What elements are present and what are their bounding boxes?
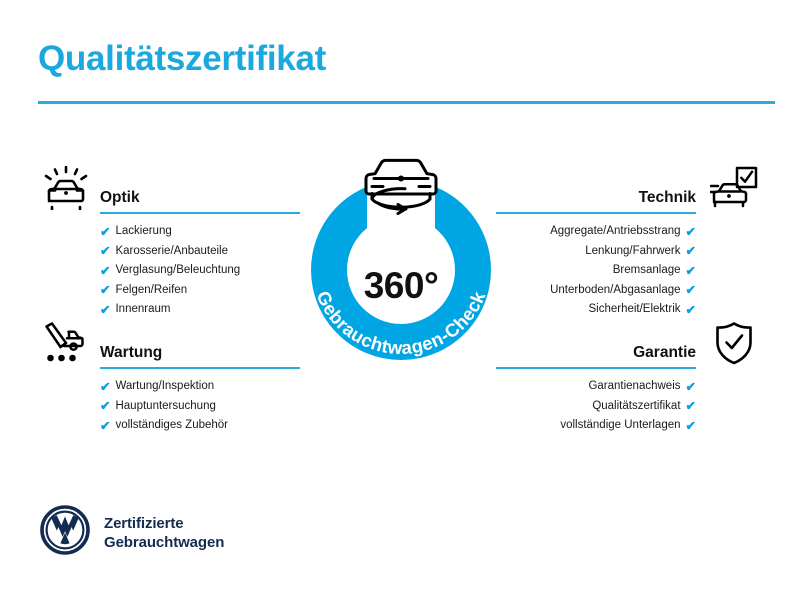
section-title-wartung: Wartung [100, 344, 162, 362]
list-item-label: Qualitätszertifikat [592, 397, 680, 417]
checklist-optik: ✔Lackierung ✔Karosserie/Anbauteile ✔Verg… [38, 222, 308, 320]
footer-logo: Zertifizierte Gebrauchtwagen [40, 505, 224, 560]
section-wartung: Wartung ✔Wartung/Inspektion ✔Hauptunters… [38, 318, 308, 436]
section-underline-technik [496, 212, 696, 214]
list-item-label: Bremsanlage [613, 261, 681, 281]
check-icon: ✔ [100, 226, 110, 239]
list-item-label: Felgen/Reifen [115, 281, 187, 301]
check-icon: ✔ [100, 304, 110, 317]
list-item: Qualitätszertifikat✔ [492, 397, 696, 417]
list-item-label: Hauptuntersuchung [115, 397, 215, 417]
section-title-technik: Technik [639, 189, 696, 207]
list-item-label: Lackierung [115, 222, 171, 242]
list-item: Lenkung/Fahrwerk✔ [492, 242, 696, 262]
check-icon: ✔ [100, 420, 110, 433]
section-header-technik: Technik [492, 163, 762, 215]
section-title-garantie: Garantie [633, 344, 696, 362]
list-item-label: Karosserie/Anbauteile [115, 242, 228, 262]
check-icon: ✔ [686, 245, 696, 258]
section-underline-wartung [100, 367, 300, 369]
section-technik: Technik Aggregate/Antriebsstrang✔ Lenkun… [492, 163, 762, 320]
list-item: Aggregate/Antriebsstrang✔ [492, 222, 696, 242]
list-item: Garantienachweis✔ [492, 377, 696, 397]
list-item: Bremsanlage✔ [492, 261, 696, 281]
service-pen-car-icon [38, 318, 94, 368]
car-checkbox-icon [706, 163, 762, 213]
check-icon: ✔ [686, 420, 696, 433]
section-header-optik: Optik [38, 163, 308, 215]
list-item: vollständige Unterlagen✔ [492, 416, 696, 436]
check-icon: ✔ [100, 284, 110, 297]
list-item-label: Wartung/Inspektion [115, 377, 214, 397]
list-item: ✔Innenraum [100, 300, 308, 320]
check-icon: ✔ [686, 400, 696, 413]
checklist-garantie: Garantienachweis✔ Qualitätszertifikat✔ v… [492, 377, 762, 436]
list-item-label: Lenkung/Fahrwerk [585, 242, 680, 262]
section-header-wartung: Wartung [38, 318, 308, 370]
section-title-optik: Optik [100, 189, 140, 207]
check-icon: ✔ [686, 284, 696, 297]
certificate-page: Qualitätszertifikat [0, 0, 800, 600]
shield-check-icon [706, 318, 762, 368]
list-item: ✔Lackierung [100, 222, 308, 242]
list-item-label: vollständiges Zubehör [115, 416, 228, 436]
list-item: ✔Verglasung/Beleuchtung [100, 261, 308, 281]
list-item-label: Sicherheit/Elektrik [588, 300, 680, 320]
checklist-technik: Aggregate/Antriebsstrang✔ Lenkung/Fahrwe… [492, 222, 762, 320]
list-item-label: Garantienachweis [588, 377, 680, 397]
list-item: ✔Hauptuntersuchung [100, 397, 308, 417]
check-icon: ✔ [686, 381, 696, 394]
badge-center-label: 360° [364, 265, 439, 306]
check-icon: ✔ [686, 226, 696, 239]
list-item: ✔Felgen/Reifen [100, 281, 308, 301]
list-item-label: Verglasung/Beleuchtung [115, 261, 240, 281]
list-item-label: Unterboden/Abgasanlage [550, 281, 680, 301]
list-item-label: Innenraum [115, 300, 170, 320]
list-item-label: vollständige Unterlagen [560, 416, 680, 436]
page-title: Qualitätszertifikat [38, 40, 326, 79]
checklist-wartung: ✔Wartung/Inspektion ✔Hauptuntersuchung ✔… [38, 377, 308, 436]
list-item: ✔Karosserie/Anbauteile [100, 242, 308, 262]
list-item: ✔Wartung/Inspektion [100, 377, 308, 397]
list-item: Sicherheit/Elektrik✔ [492, 300, 696, 320]
list-item: Unterboden/Abgasanlage✔ [492, 281, 696, 301]
section-underline-garantie [496, 367, 696, 369]
check-icon: ✔ [100, 265, 110, 278]
check-icon: ✔ [686, 304, 696, 317]
badge-360-gebrauchtwagen-check: Gebrauchtwagen-Check 360° [295, 152, 507, 370]
check-icon: ✔ [100, 381, 110, 394]
check-icon: ✔ [686, 265, 696, 278]
footer-logo-text: Zertifizierte Gebrauchtwagen [104, 514, 224, 552]
check-icon: ✔ [100, 400, 110, 413]
section-header-garantie: Garantie [492, 318, 762, 370]
check-icon: ✔ [100, 245, 110, 258]
section-garantie: Garantie Garantienachweis✔ Qualitätszert… [492, 318, 762, 436]
list-item-label: Aggregate/Antriebsstrang [550, 222, 680, 242]
volkswagen-logo-icon [40, 505, 90, 560]
title-divider [38, 101, 775, 104]
list-item: ✔vollständiges Zubehör [100, 416, 308, 436]
section-underline-optik [100, 212, 300, 214]
footer-logo-line2: Gebrauchtwagen [104, 534, 224, 551]
car-shine-icon [38, 163, 94, 213]
section-optik: Optik ✔Lackierung ✔Karosserie/Anbauteile… [38, 163, 308, 320]
footer-logo-line1: Zertifizierte [104, 515, 184, 532]
